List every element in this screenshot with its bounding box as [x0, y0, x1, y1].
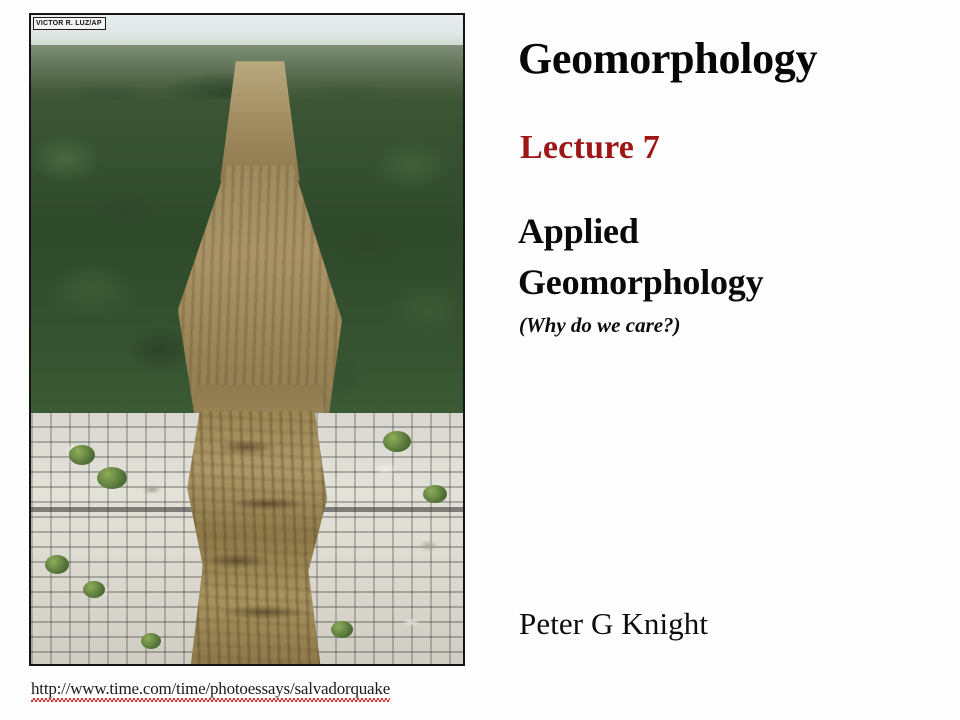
- tree-cluster: [83, 581, 105, 598]
- landslide-photo: VICTOR R. LUZ/AP: [29, 13, 465, 666]
- subtitle-note: (Why do we care?): [519, 312, 681, 338]
- subtitle-line-2: Geomorphology: [518, 257, 763, 308]
- title-text-block: Geomorphology Lecture 7 Applied Geomorph…: [518, 0, 948, 720]
- tree-cluster: [45, 555, 69, 574]
- subtitle-line-1: Applied: [518, 206, 763, 257]
- tree-cluster: [69, 445, 95, 465]
- tree-cluster: [331, 621, 353, 638]
- tree-cluster: [383, 431, 411, 452]
- lecture-number: Lecture 7: [520, 128, 660, 168]
- page-title: Geomorphology: [518, 34, 817, 84]
- tree-cluster: [423, 485, 447, 503]
- photo-block: VICTOR R. LUZ/AP http://www.time.com/tim…: [29, 13, 469, 670]
- tree-cluster: [97, 467, 127, 489]
- presentation-slide: VICTOR R. LUZ/AP http://www.time.com/tim…: [0, 0, 960, 720]
- author-name: Peter G Knight: [519, 605, 708, 643]
- debris-flow-shadows: [178, 411, 334, 666]
- photo-source-url[interactable]: http://www.time.com/time/photoessays/sal…: [31, 679, 390, 699]
- tree-cluster: [141, 633, 161, 649]
- photo-source-url-text: http://www.time.com/time/photoessays/sal…: [31, 679, 390, 699]
- slide-subtitle: Applied Geomorphology: [518, 206, 763, 308]
- photo-credit-label: VICTOR R. LUZ/AP: [33, 17, 106, 30]
